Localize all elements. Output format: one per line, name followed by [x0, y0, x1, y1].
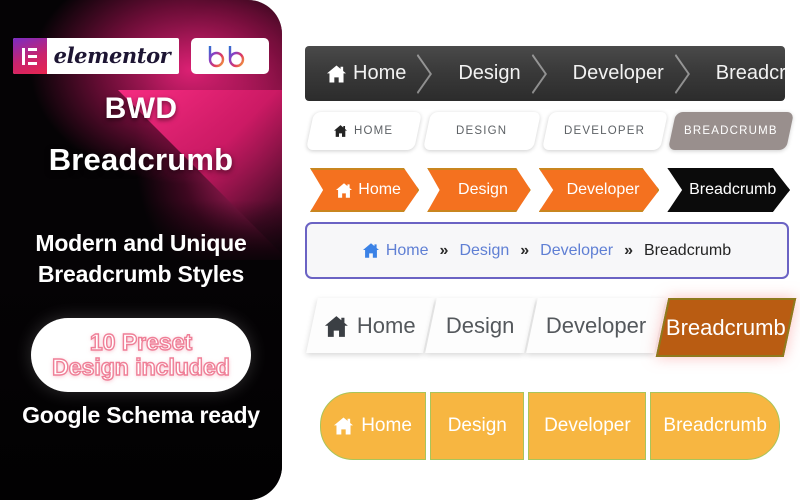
- breadcrumb-label: Design: [458, 181, 508, 199]
- breadcrumb-label: Home: [386, 242, 429, 260]
- elementor-logo-text: elementor: [47, 43, 180, 70]
- breadcrumb-label: Home: [358, 181, 401, 199]
- breadcrumb-item-developer[interactable]: DEVELOPER: [541, 112, 667, 150]
- breadcrumb-item-design[interactable]: Design: [459, 242, 509, 260]
- breadcrumb-item-developer[interactable]: Developer: [539, 168, 660, 212]
- screenshot-root: elementor: [0, 0, 800, 500]
- breadcrumb-item-home[interactable]: Home: [363, 242, 429, 260]
- breadcrumb-item-home[interactable]: Home: [306, 298, 434, 353]
- breadcrumb-label: Design: [448, 415, 507, 437]
- breadcrumb-style-amber-pill-group: Home Design Developer Breadcrumb: [320, 392, 780, 458]
- breadcrumb-item-design[interactable]: Design: [436, 46, 550, 101]
- breadcrumb-style-dark-arrow-bar: Home Design Developer Breadcrumb: [305, 46, 785, 101]
- promo-tagline-line1: Modern and Unique: [0, 228, 282, 259]
- elementor-mark-icon: [13, 38, 47, 74]
- breadcrumb-label: HOME: [354, 125, 393, 137]
- breadcrumb-item-design[interactable]: Design: [427, 168, 530, 212]
- breadcrumb-label: Breadcrumb: [663, 415, 767, 437]
- home-icon: [325, 315, 348, 336]
- breadcrumb-style-large-skew-tabs: Home Design Developer Breadcrumb: [312, 298, 790, 353]
- breadcrumb-style-white-skew-tabs: HOME DESIGN DEVELOPER BREADCRUMB: [310, 112, 790, 150]
- breadcrumb-label: Design: [459, 242, 509, 260]
- breadcrumb-label: Developer: [573, 62, 664, 85]
- promo-title: BWD: [0, 92, 282, 126]
- promo-tagline-line2: Breadcrumb Styles: [0, 259, 282, 290]
- promo-subtitle-title: Breadcrumb: [0, 142, 282, 178]
- breadcrumb-label: Breadcrumb: [666, 315, 786, 341]
- breadcrumb-label: Breadcrumb: [716, 62, 785, 85]
- bb-logo: [191, 38, 269, 74]
- preset-badge: 10 Preset Design included: [31, 318, 251, 392]
- breadcrumb-label: Home: [353, 62, 406, 85]
- breadcrumb-label: Breadcrumb: [644, 242, 731, 260]
- breadcrumb-item-developer[interactable]: Developer: [528, 392, 646, 460]
- breadcrumb-style-bordered-box: Home » Design » Developer » Breadcrumb: [305, 222, 789, 279]
- bb-logo-icon: [202, 43, 258, 69]
- home-icon: [363, 243, 379, 258]
- breadcrumb-item-home[interactable]: Home: [305, 46, 436, 101]
- breadcrumb-item-design[interactable]: DESIGN: [423, 112, 541, 150]
- breadcrumb-label: Home: [361, 415, 412, 437]
- breadcrumb-label: Developer: [567, 181, 640, 199]
- breadcrumb-item-developer[interactable]: Developer: [540, 242, 613, 260]
- breadcrumb-item-breadcrumb-active[interactable]: BREADCRUMB: [668, 112, 794, 150]
- breadcrumb-item-home[interactable]: Home: [320, 392, 426, 460]
- breadcrumb-separator-icon: »: [624, 242, 633, 260]
- breadcrumb-item-design[interactable]: Design: [425, 298, 536, 353]
- home-icon: [327, 65, 346, 83]
- breadcrumb-item-design[interactable]: Design: [430, 392, 524, 460]
- breadcrumb-label: Design: [446, 313, 514, 339]
- elementor-logo: elementor: [13, 38, 180, 74]
- logo-row: elementor: [0, 38, 282, 74]
- breadcrumb-item-home[interactable]: HOME: [306, 112, 422, 150]
- breadcrumb-item-developer[interactable]: Developer: [526, 298, 666, 353]
- home-icon: [336, 183, 352, 198]
- preset-badge-line2: Design included: [52, 355, 230, 380]
- breadcrumb-demos: Home Design Developer Breadcrumb HOME: [300, 0, 800, 500]
- preset-badge-line1: 10 Preset: [90, 330, 192, 355]
- breadcrumb-item-breadcrumb-current: Breadcrumb: [644, 242, 731, 260]
- breadcrumb-label: BREADCRUMB: [684, 125, 778, 137]
- breadcrumb-item-breadcrumb[interactable]: Breadcrumb: [650, 392, 780, 460]
- breadcrumb-label: Developer: [546, 313, 646, 339]
- breadcrumb-label: DESIGN: [456, 125, 507, 137]
- breadcrumb-item-breadcrumb-active[interactable]: Breadcrumb: [667, 168, 790, 212]
- home-icon: [334, 125, 347, 137]
- promo-tagline: Modern and Unique Breadcrumb Styles: [0, 228, 282, 290]
- breadcrumb-label: Developer: [544, 415, 631, 437]
- breadcrumb-item-home[interactable]: Home: [310, 168, 419, 212]
- breadcrumb-item-breadcrumb[interactable]: Breadcrumb: [694, 46, 785, 101]
- breadcrumb-label: DEVELOPER: [564, 125, 645, 137]
- breadcrumb-item-developer[interactable]: Developer: [551, 46, 694, 101]
- breadcrumb-label: Design: [458, 62, 520, 85]
- breadcrumb-label: Breadcrumb: [689, 181, 776, 199]
- breadcrumb-separator-icon: »: [520, 242, 529, 260]
- home-icon: [334, 417, 353, 435]
- breadcrumb-label: Home: [357, 313, 416, 339]
- breadcrumb-label: Developer: [540, 242, 613, 260]
- promo-footer-text: Google Schema ready: [0, 402, 282, 429]
- breadcrumb-style-orange-arrows: Home Design Developer Breadcrumb: [310, 168, 790, 208]
- promo-panel: elementor: [0, 0, 282, 500]
- breadcrumb-separator-icon: »: [440, 242, 449, 260]
- breadcrumb-item-breadcrumb-active[interactable]: Breadcrumb: [656, 298, 797, 357]
